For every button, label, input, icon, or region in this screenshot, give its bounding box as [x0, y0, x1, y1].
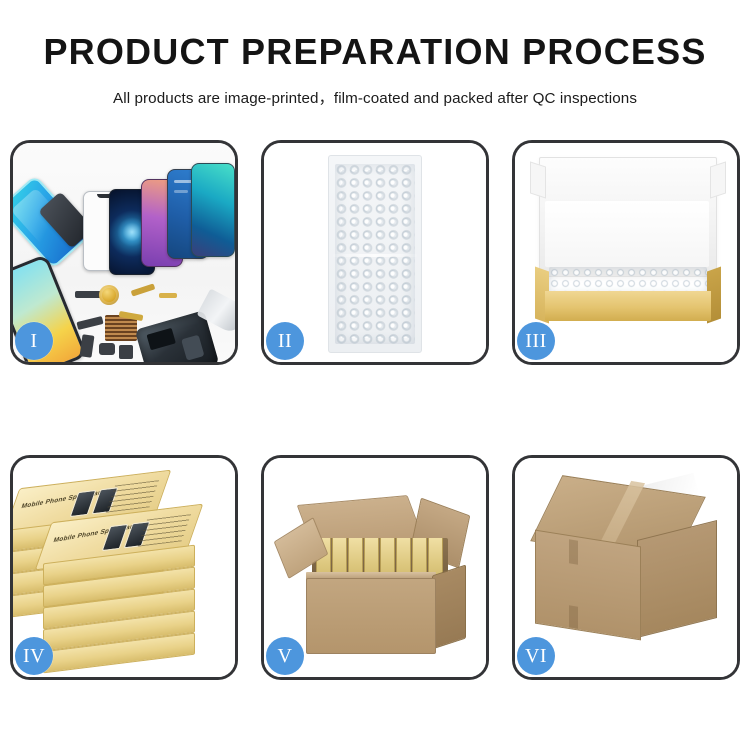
- step-number-badge-3: III: [517, 322, 555, 360]
- carton-seam-lower: [569, 605, 578, 628]
- step-number-badge-1: I: [15, 322, 53, 360]
- header: PRODUCT PREPARATION PROCESS All products…: [0, 0, 750, 108]
- small-flex-part: [80, 334, 95, 357]
- sealed-carton-front-panel: [535, 530, 641, 641]
- retail-box-spec-lines-front: [138, 514, 191, 547]
- camera-module-part: [119, 345, 133, 359]
- step-number-badge-4: IV: [15, 637, 53, 675]
- phone-teal-display-item: [191, 163, 235, 257]
- carton-side-panel: [432, 564, 466, 649]
- flex-cable-part: [131, 283, 156, 296]
- step-number-badge-2: II: [266, 322, 304, 360]
- carton-front-panel: [306, 578, 436, 654]
- speaker-part: [99, 343, 115, 355]
- product-preparation-infographic: PRODUCT PREPARATION PROCESS All products…: [0, 0, 750, 750]
- mailer-front-panel: [545, 291, 711, 321]
- step-number-badge-5: V: [266, 637, 304, 675]
- carton-seam-upper: [569, 539, 578, 564]
- process-step-4[interactable]: Mobile Phone Spare Parts Mobile Phone Sp…: [10, 455, 238, 680]
- button-flex-part: [159, 293, 177, 298]
- pouch-seam: [333, 254, 417, 257]
- bubble-wrap-pouch: [328, 155, 422, 353]
- retail-box-spec-lines-back: [106, 480, 159, 513]
- step-number-badge-6: VI: [517, 637, 555, 675]
- process-step-grid: I II: [10, 140, 740, 680]
- gold-coil-part: [99, 285, 119, 305]
- foam-insert: [545, 201, 709, 267]
- process-step-3[interactable]: III: [512, 140, 740, 365]
- ribbon-cable-part: [76, 316, 103, 330]
- page-subtitle: All products are image-printed，film-coat…: [0, 86, 750, 108]
- connector-part: [75, 291, 101, 298]
- process-step-1[interactable]: I: [10, 140, 238, 365]
- process-step-5[interactable]: V: [261, 455, 489, 680]
- sealed-carton-right-panel: [637, 520, 717, 638]
- process-step-6[interactable]: VI: [512, 455, 740, 680]
- bubble-wrapped-product-in-box: [549, 267, 707, 293]
- page-title: PRODUCT PREPARATION PROCESS: [0, 34, 750, 70]
- process-step-2[interactable]: II: [261, 140, 489, 365]
